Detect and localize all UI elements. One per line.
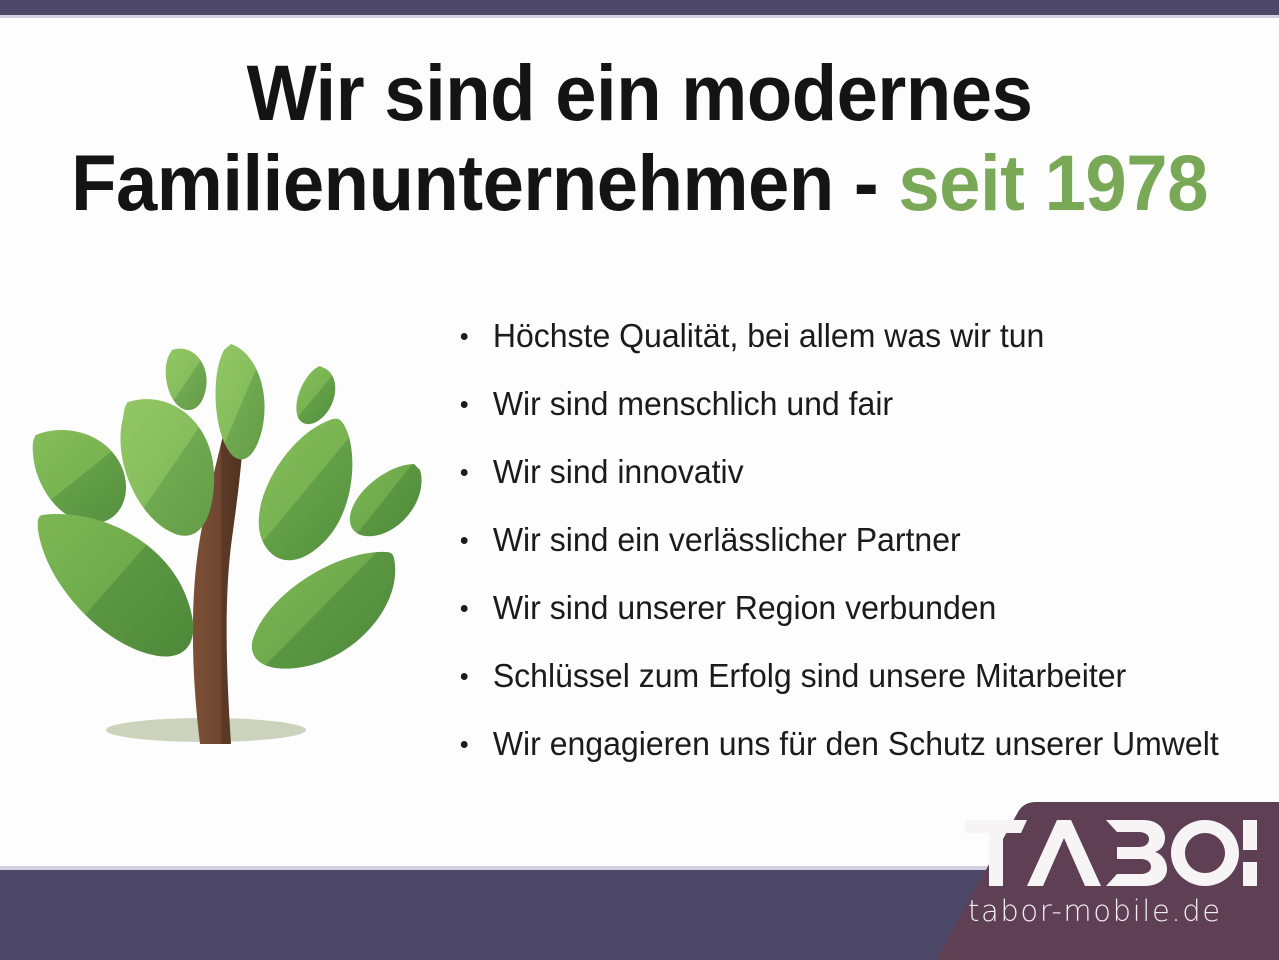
tree-leaf-2 (120, 399, 214, 536)
slide-canvas: Wir sind ein modernes Familienunternehme… (0, 0, 1279, 960)
tabor-wordmark (965, 820, 1257, 886)
tree-leaf-3 (166, 349, 207, 411)
list-item-label: Schlüssel zum Erfolg sind unsere Mitarbe… (493, 657, 1126, 694)
list-item: Wir sind unserer Region verbunden (455, 574, 1241, 642)
bullet-dot-icon (461, 605, 468, 612)
top-accent-bar-edge (0, 15, 1279, 18)
bullet-dot-icon (461, 401, 468, 408)
headline-line-2: Familienunternehmen - seit 1978 (38, 138, 1240, 228)
list-item: Schlüssel zum Erfolg sind unsere Mitarbe… (455, 642, 1241, 710)
list-item: Wir engagieren uns für den Schutz unsere… (455, 710, 1241, 778)
top-accent-bar (0, 0, 1279, 15)
list-item: Wir sind innovativ (455, 438, 1241, 506)
bullet-dot-icon (461, 469, 468, 476)
tree-leaf-6 (259, 419, 353, 561)
list-item: Wir sind menschlich und fair (455, 370, 1241, 438)
brand-url-text: tabor-mobile.de (968, 894, 1258, 928)
list-item: Wir sind ein verlässlicher Partner (455, 506, 1241, 574)
headline-line-1: Wir sind ein modernes (247, 48, 1033, 137)
tree-leaf-9 (252, 552, 395, 669)
bullet-dot-icon (461, 673, 468, 680)
list-item-label: Wir sind unserer Region verbunden (493, 589, 997, 626)
tree-leaf-5 (296, 366, 335, 424)
headline-accent-text: seit 1978 (898, 138, 1208, 227)
list-item: Höchste Qualität, bei allem was wir tun (455, 302, 1241, 370)
headline-line-2-plain: Familienunternehmen - (71, 138, 898, 227)
list-item-label: Wir sind ein verlässlicher Partner (493, 521, 961, 558)
tree-leaf-8 (38, 514, 194, 656)
list-item-label: Höchste Qualität, bei allem was wir tun (493, 317, 1045, 354)
value-bullet-list: Höchste Qualität, bei allem was wir tun … (455, 302, 1265, 778)
slide-headline: Wir sind ein modernes Familienunternehme… (38, 48, 1240, 228)
list-item-label: Wir sind menschlich und fair (493, 385, 893, 422)
bullet-dot-icon (461, 537, 468, 544)
tree-illustration (28, 330, 430, 760)
tree-leaf-1 (33, 430, 126, 523)
list-item-label: Wir engagieren uns für den Schutz unsere… (493, 725, 1219, 762)
bullet-dot-icon (461, 741, 468, 748)
brand-logo-panel: tabor-mobile.de (880, 798, 1279, 960)
tree-leaf-7 (350, 464, 422, 536)
list-item-label: Wir sind innovativ (493, 453, 744, 490)
bullet-dot-icon (461, 333, 468, 340)
